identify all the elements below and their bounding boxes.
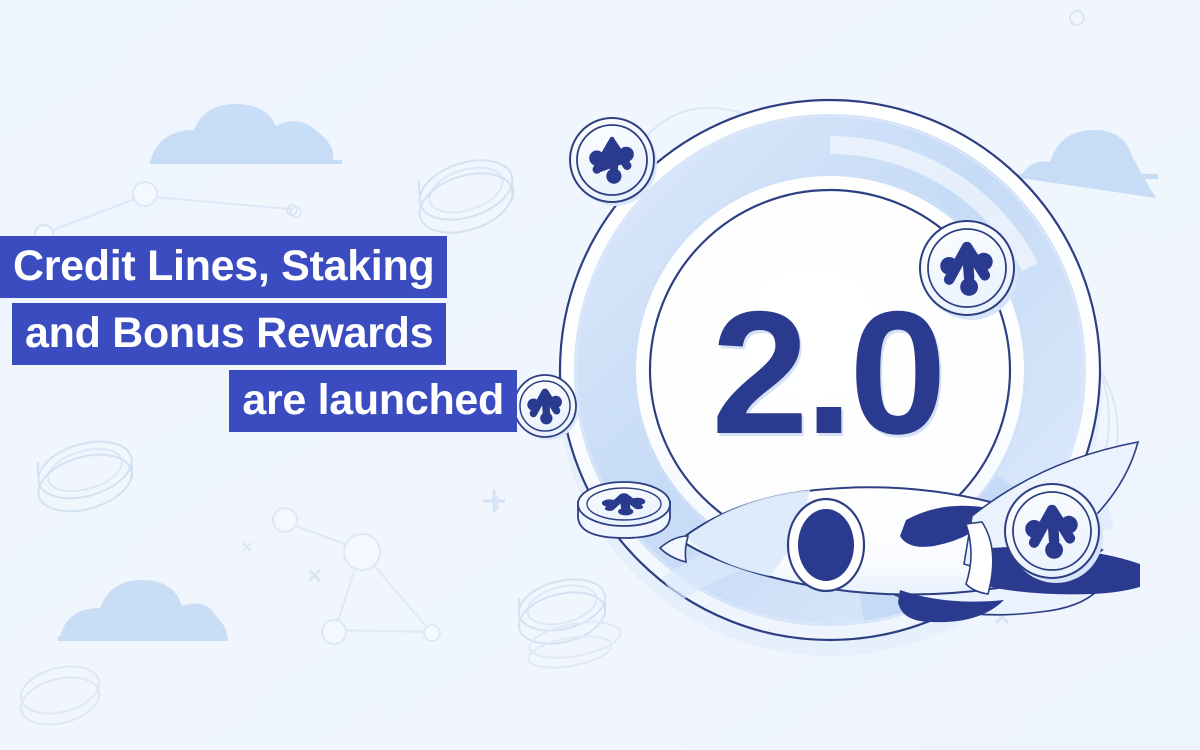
headline-line-2: and Bonus Rewards bbox=[12, 303, 446, 365]
headline-line-1: Credit Lines, Staking bbox=[0, 236, 447, 298]
coin-badge-bottom-left-flat bbox=[570, 470, 680, 560]
coin-badge-bottom-right bbox=[1000, 478, 1106, 584]
headline-block: Credit Lines, Staking and Bonus Rewards … bbox=[0, 236, 540, 432]
headline-line-3: are launched bbox=[229, 370, 517, 432]
coin-badge-top-left bbox=[565, 112, 661, 208]
coin-badge-top-right bbox=[915, 215, 1021, 321]
promo-banner: Credit Lines, Staking and Bonus Rewards … bbox=[0, 0, 1200, 750]
launch-illustration: 2.0 bbox=[520, 70, 1140, 690]
